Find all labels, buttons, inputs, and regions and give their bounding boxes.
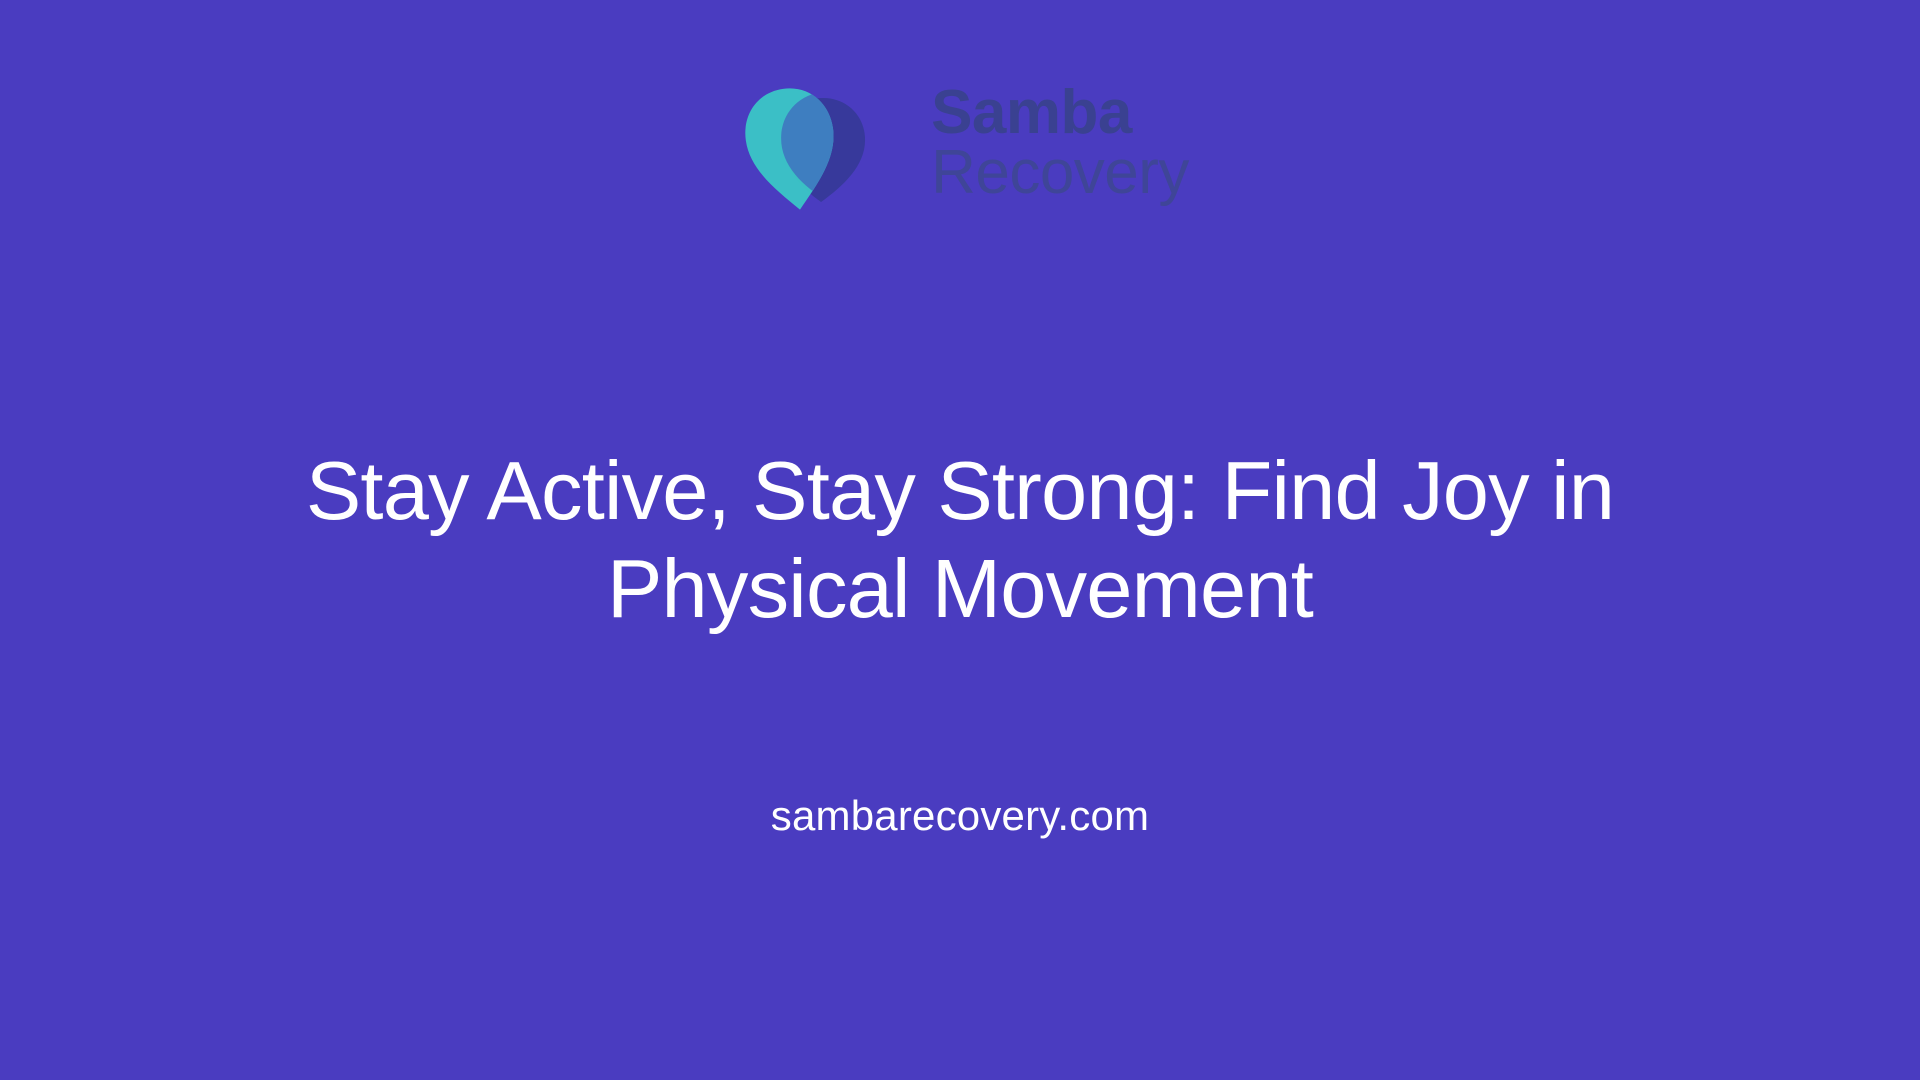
split-heart-logo-icon: [731, 70, 891, 220]
brand-lockup: Samba Recovery: [731, 70, 1189, 220]
social-share-card: Samba Recovery Stay Active, Stay Strong:…: [0, 0, 1920, 1080]
brand-wordmark: Samba Recovery: [931, 83, 1189, 206]
brand-subname: Recovery: [931, 143, 1189, 203]
page-title: Stay Active, Stay Strong: Find Joy in Ph…: [260, 442, 1660, 638]
website-url: sambarecovery.com: [0, 792, 1920, 840]
brand-name: Samba: [931, 83, 1189, 143]
